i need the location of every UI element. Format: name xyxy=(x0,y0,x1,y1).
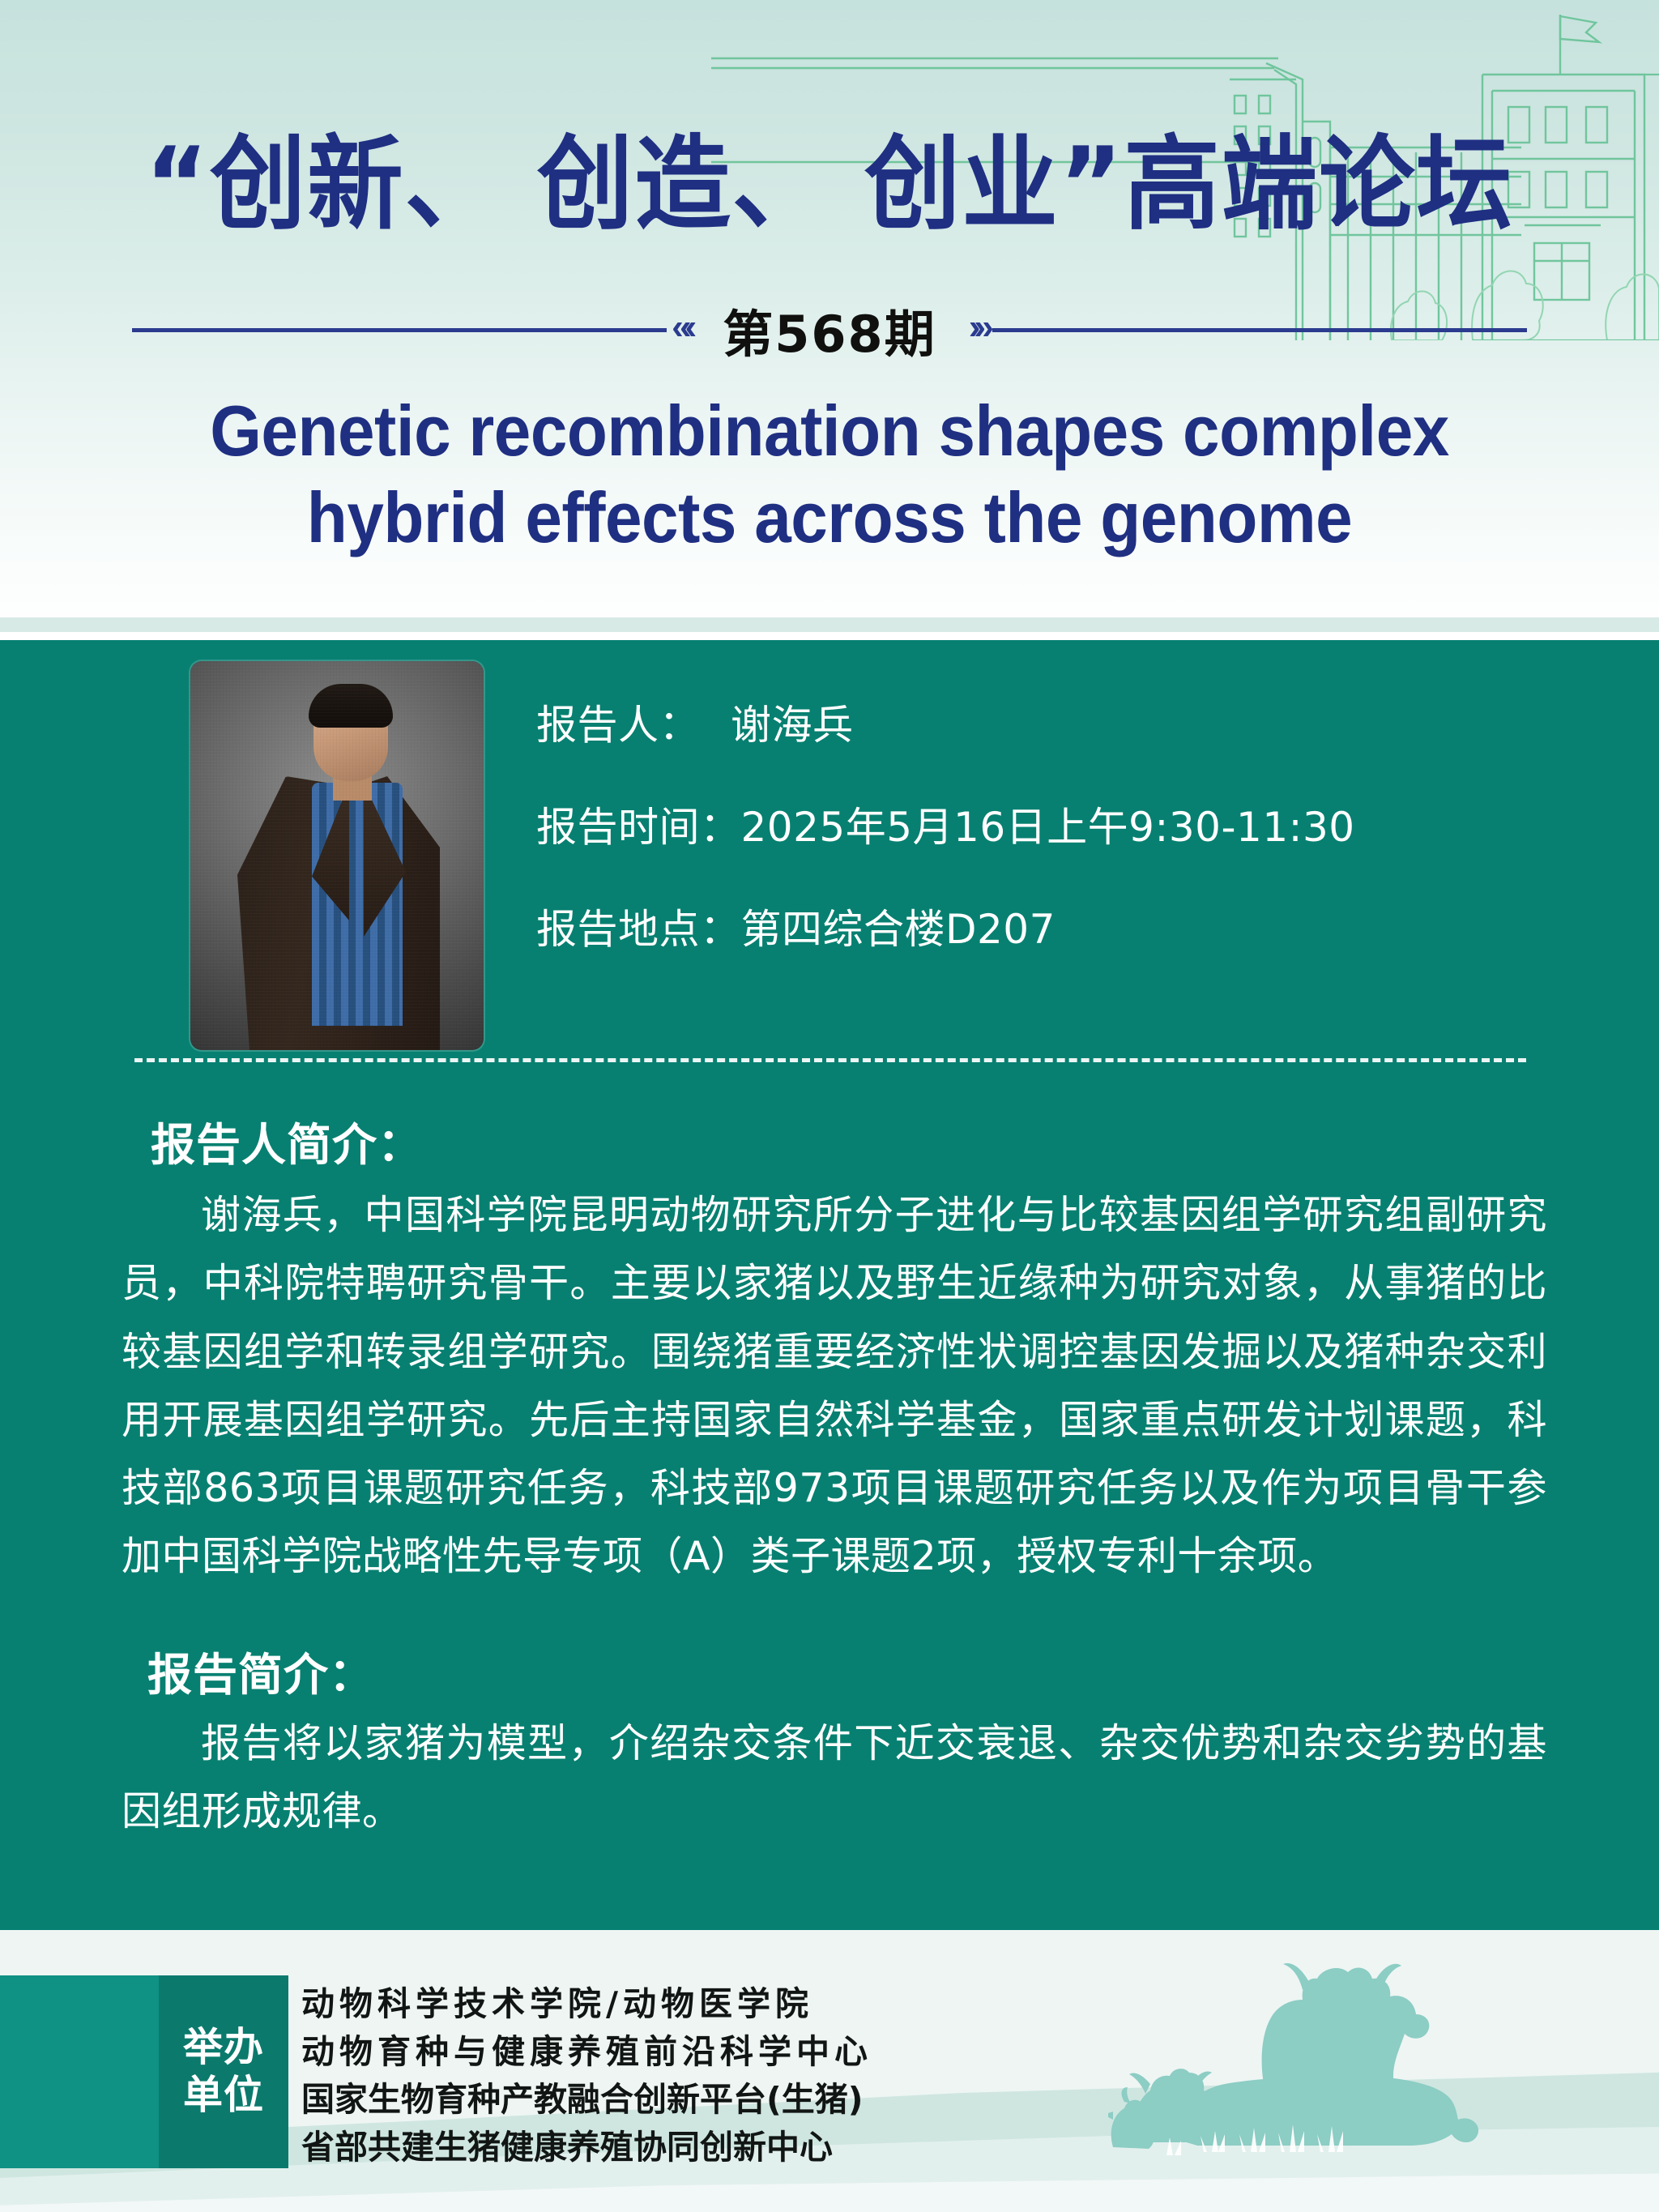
speaker-photo xyxy=(190,661,484,1050)
chevron-left-icon: «‹ xyxy=(667,310,695,345)
organizer-item-4: 省部共建生猪健康养殖协同创新中心 xyxy=(301,2124,872,2171)
venue-value: 第四综合楼D207 xyxy=(741,906,1056,953)
photo-texture-overlay xyxy=(190,661,484,1050)
main-green-panel: 报告人：谢海兵 报告时间：2025年5月16日上午9:30-11:30 报告地点… xyxy=(0,640,1659,1930)
issue-number: 第568期 xyxy=(695,293,963,366)
speaker-name: 谢海兵 xyxy=(731,702,854,749)
host-label-line-1: 举办 xyxy=(183,2026,264,2069)
dashed-divider xyxy=(134,1058,1526,1062)
time-row: 报告时间：2025年5月16日上午9:30-11:30 xyxy=(536,807,1355,848)
speaker-label: 报告人： xyxy=(536,702,700,749)
talk-title-english: Genetic recombination shapes complex hyb… xyxy=(58,387,1601,562)
page-title: “创新、 创造、 创业”高端论坛 xyxy=(49,134,1609,236)
time-value: 2025年5月16日上午9:30-11:30 xyxy=(741,804,1355,851)
venue-row: 报告地点：第四综合楼D207 xyxy=(536,909,1355,950)
speaker-row: 报告人：谢海兵 xyxy=(536,705,1355,745)
divider-line-left xyxy=(132,328,667,332)
poster-header: “创新、 创造、 创业”高端论坛 «‹ 第568期 ›» Genetic rec… xyxy=(0,0,1659,632)
organizer-item-3: 国家生物育种产教融合创新平台(生猪) xyxy=(301,2076,872,2124)
host-label-box: 举办 单位 xyxy=(159,1975,288,2168)
host-label-line-2: 单位 xyxy=(183,2074,264,2117)
issue-divider: «‹ 第568期 ›» xyxy=(0,285,1659,374)
talk-title-line-1: Genetic recombination shapes complex xyxy=(58,387,1601,474)
poster-footer: 举办 单位 动物科学技术学院/动物医学院 动物育种与健康养殖前沿科学中心 国家生… xyxy=(0,1930,1659,2212)
chevron-right-icon: ›» xyxy=(964,310,992,345)
organizer-list: 动物科学技术学院/动物医学院 动物育种与健康养殖前沿科学中心 国家生物育种产教融… xyxy=(301,1980,872,2171)
organizer-item-2: 动物育种与健康养殖前沿科学中心 xyxy=(301,2028,872,2076)
talk-info-block: 报告人：谢海兵 报告时间：2025年5月16日上午9:30-11:30 报告地点… xyxy=(536,705,1355,950)
venue-label: 报告地点： xyxy=(536,906,741,953)
organizer-item-1: 动物科学技术学院/动物医学院 xyxy=(301,1980,872,2028)
bio-paragraph: 谢海兵，中国科学院昆明动物研究所分子进化与比较基因组学研究组副研究员，中科院特聘… xyxy=(122,1181,1547,1591)
abstract-heading: 报告简介： xyxy=(147,1638,374,1703)
divider-line-right xyxy=(992,328,1527,332)
bio-heading: 报告人简介： xyxy=(151,1108,423,1173)
header-bottom-band xyxy=(0,617,1659,632)
time-label: 报告时间： xyxy=(536,804,741,851)
poster-root: “创新、 创造、 创业”高端论坛 «‹ 第568期 ›» Genetic rec… xyxy=(0,0,1659,2212)
abstract-paragraph: 报告将以家猪为模型，介绍杂交条件下近交衰退、杂交优势和杂交劣势的基因组形成规律。 xyxy=(122,1710,1547,1847)
talk-title-line-2: hybrid effects across the genome xyxy=(58,474,1601,561)
